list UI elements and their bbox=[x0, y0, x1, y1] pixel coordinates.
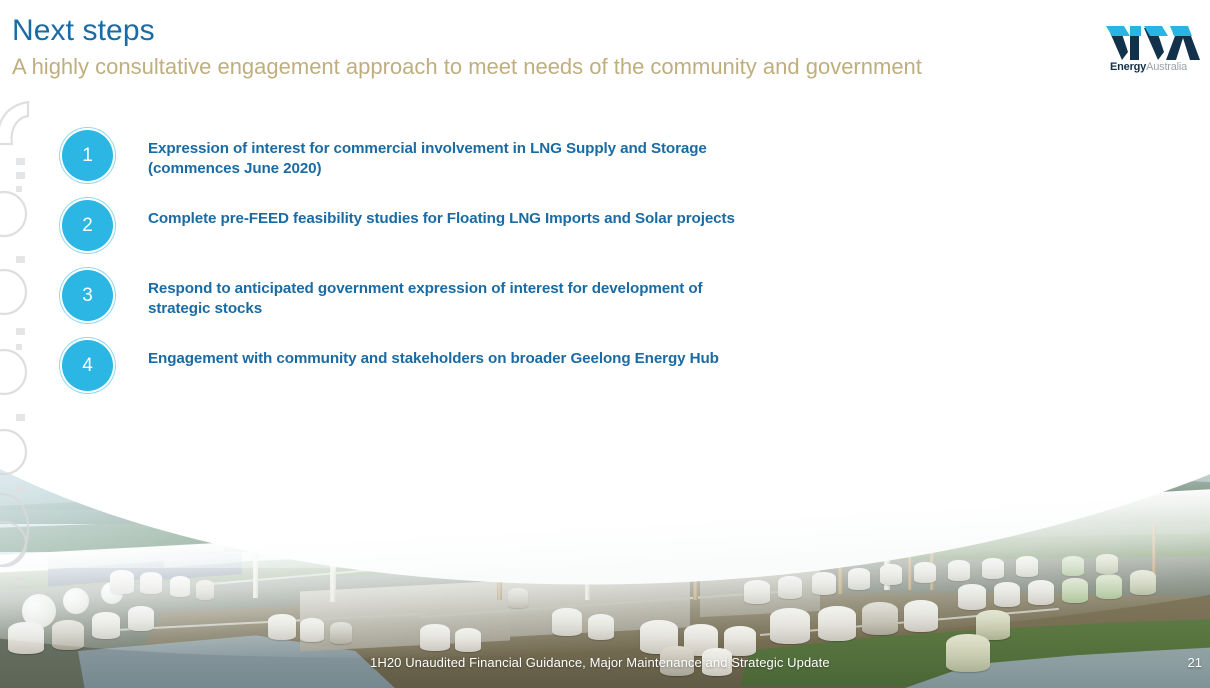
photo-storage-tank bbox=[92, 612, 120, 639]
photo-storage-tank bbox=[1130, 570, 1156, 595]
viva-wordmark-icon bbox=[1104, 22, 1200, 62]
step-text: Expression of interest for commercial in… bbox=[148, 126, 762, 178]
step-number-badge: 1 bbox=[62, 130, 113, 181]
presentation-slide: Next steps A highly consultative engagem… bbox=[0, 0, 1210, 688]
photo-storage-tank bbox=[140, 572, 162, 594]
photo-storage-tank bbox=[110, 570, 134, 594]
page-number: 21 bbox=[1188, 655, 1202, 670]
photo-storage-tank bbox=[904, 600, 938, 632]
photo-storage-tank bbox=[1062, 578, 1088, 603]
photo-storage-tank bbox=[1016, 556, 1038, 577]
list-item: 1 Expression of interest for commercial … bbox=[62, 126, 762, 196]
refinery-aerial-photo bbox=[0, 398, 1210, 688]
photo-storage-tank bbox=[420, 624, 450, 651]
photo-storage-tank bbox=[552, 608, 582, 636]
photo-storage-tank bbox=[170, 576, 190, 597]
photo-storage-tank bbox=[455, 628, 481, 652]
photo-storage-tank bbox=[196, 580, 214, 600]
photo-storage-tank bbox=[744, 580, 770, 604]
photo-storage-tank bbox=[946, 634, 990, 672]
photo-storage-tank bbox=[862, 602, 898, 635]
step-number-badge: 4 bbox=[62, 340, 113, 391]
photo-storage-tank bbox=[588, 614, 614, 640]
photo-storage-tank bbox=[880, 564, 902, 585]
photo-storage-tank bbox=[52, 620, 84, 650]
photo-sphere-tank bbox=[63, 588, 89, 614]
step-text: Respond to anticipated government expres… bbox=[148, 266, 762, 318]
photo-storage-tank bbox=[914, 562, 936, 583]
photo-storage-tank bbox=[1028, 580, 1054, 605]
list-item: 2 Complete pre-FEED feasibility studies … bbox=[62, 196, 762, 266]
logo-australia-text: Australia bbox=[1146, 61, 1187, 73]
logo-tagline: EnergyAustralia bbox=[1110, 62, 1187, 73]
photo-storage-tank bbox=[300, 618, 324, 642]
photo-storage-tank bbox=[1062, 556, 1084, 576]
photo-storage-tank bbox=[1096, 554, 1118, 574]
photo-storage-tank bbox=[982, 558, 1004, 579]
footer-note: 1H20 Unaudited Financial Guidance, Major… bbox=[370, 655, 830, 670]
photo-storage-tank bbox=[994, 582, 1020, 607]
logo-energy-text: Energy bbox=[1110, 61, 1146, 73]
list-item: 3 Respond to anticipated government expr… bbox=[62, 266, 762, 336]
photo-storage-tank bbox=[8, 622, 44, 654]
list-item: 4 Engagement with community and stakehol… bbox=[62, 336, 762, 406]
photo-storage-tank bbox=[268, 614, 296, 640]
photo-storage-tank bbox=[812, 572, 836, 595]
photo-storage-tank bbox=[778, 576, 802, 599]
step-text: Engagement with community and stakeholde… bbox=[148, 336, 719, 369]
photo-storage-tank bbox=[818, 606, 856, 641]
viva-energy-logo: EnergyAustralia bbox=[1104, 22, 1200, 74]
photo-storage-tank bbox=[128, 606, 154, 631]
step-number-badge: 2 bbox=[62, 200, 113, 251]
photo-storage-tank bbox=[848, 568, 870, 590]
photo-storage-tank bbox=[948, 560, 970, 581]
page-subtitle: A highly consultative engagement approac… bbox=[12, 54, 922, 79]
photo-storage-tank bbox=[330, 622, 352, 644]
slide-header: Next steps A highly consultative engagem… bbox=[0, 0, 1210, 100]
step-number-badge: 3 bbox=[62, 270, 113, 321]
photo-storage-tank bbox=[1096, 574, 1122, 599]
next-steps-list: 1 Expression of interest for commercial … bbox=[62, 126, 762, 406]
photo-storage-tank bbox=[958, 584, 986, 610]
photo-storage-tank bbox=[508, 588, 528, 608]
step-text: Complete pre-FEED feasibility studies fo… bbox=[148, 196, 735, 229]
photo-storage-tank bbox=[770, 608, 810, 644]
page-title: Next steps bbox=[12, 14, 155, 47]
